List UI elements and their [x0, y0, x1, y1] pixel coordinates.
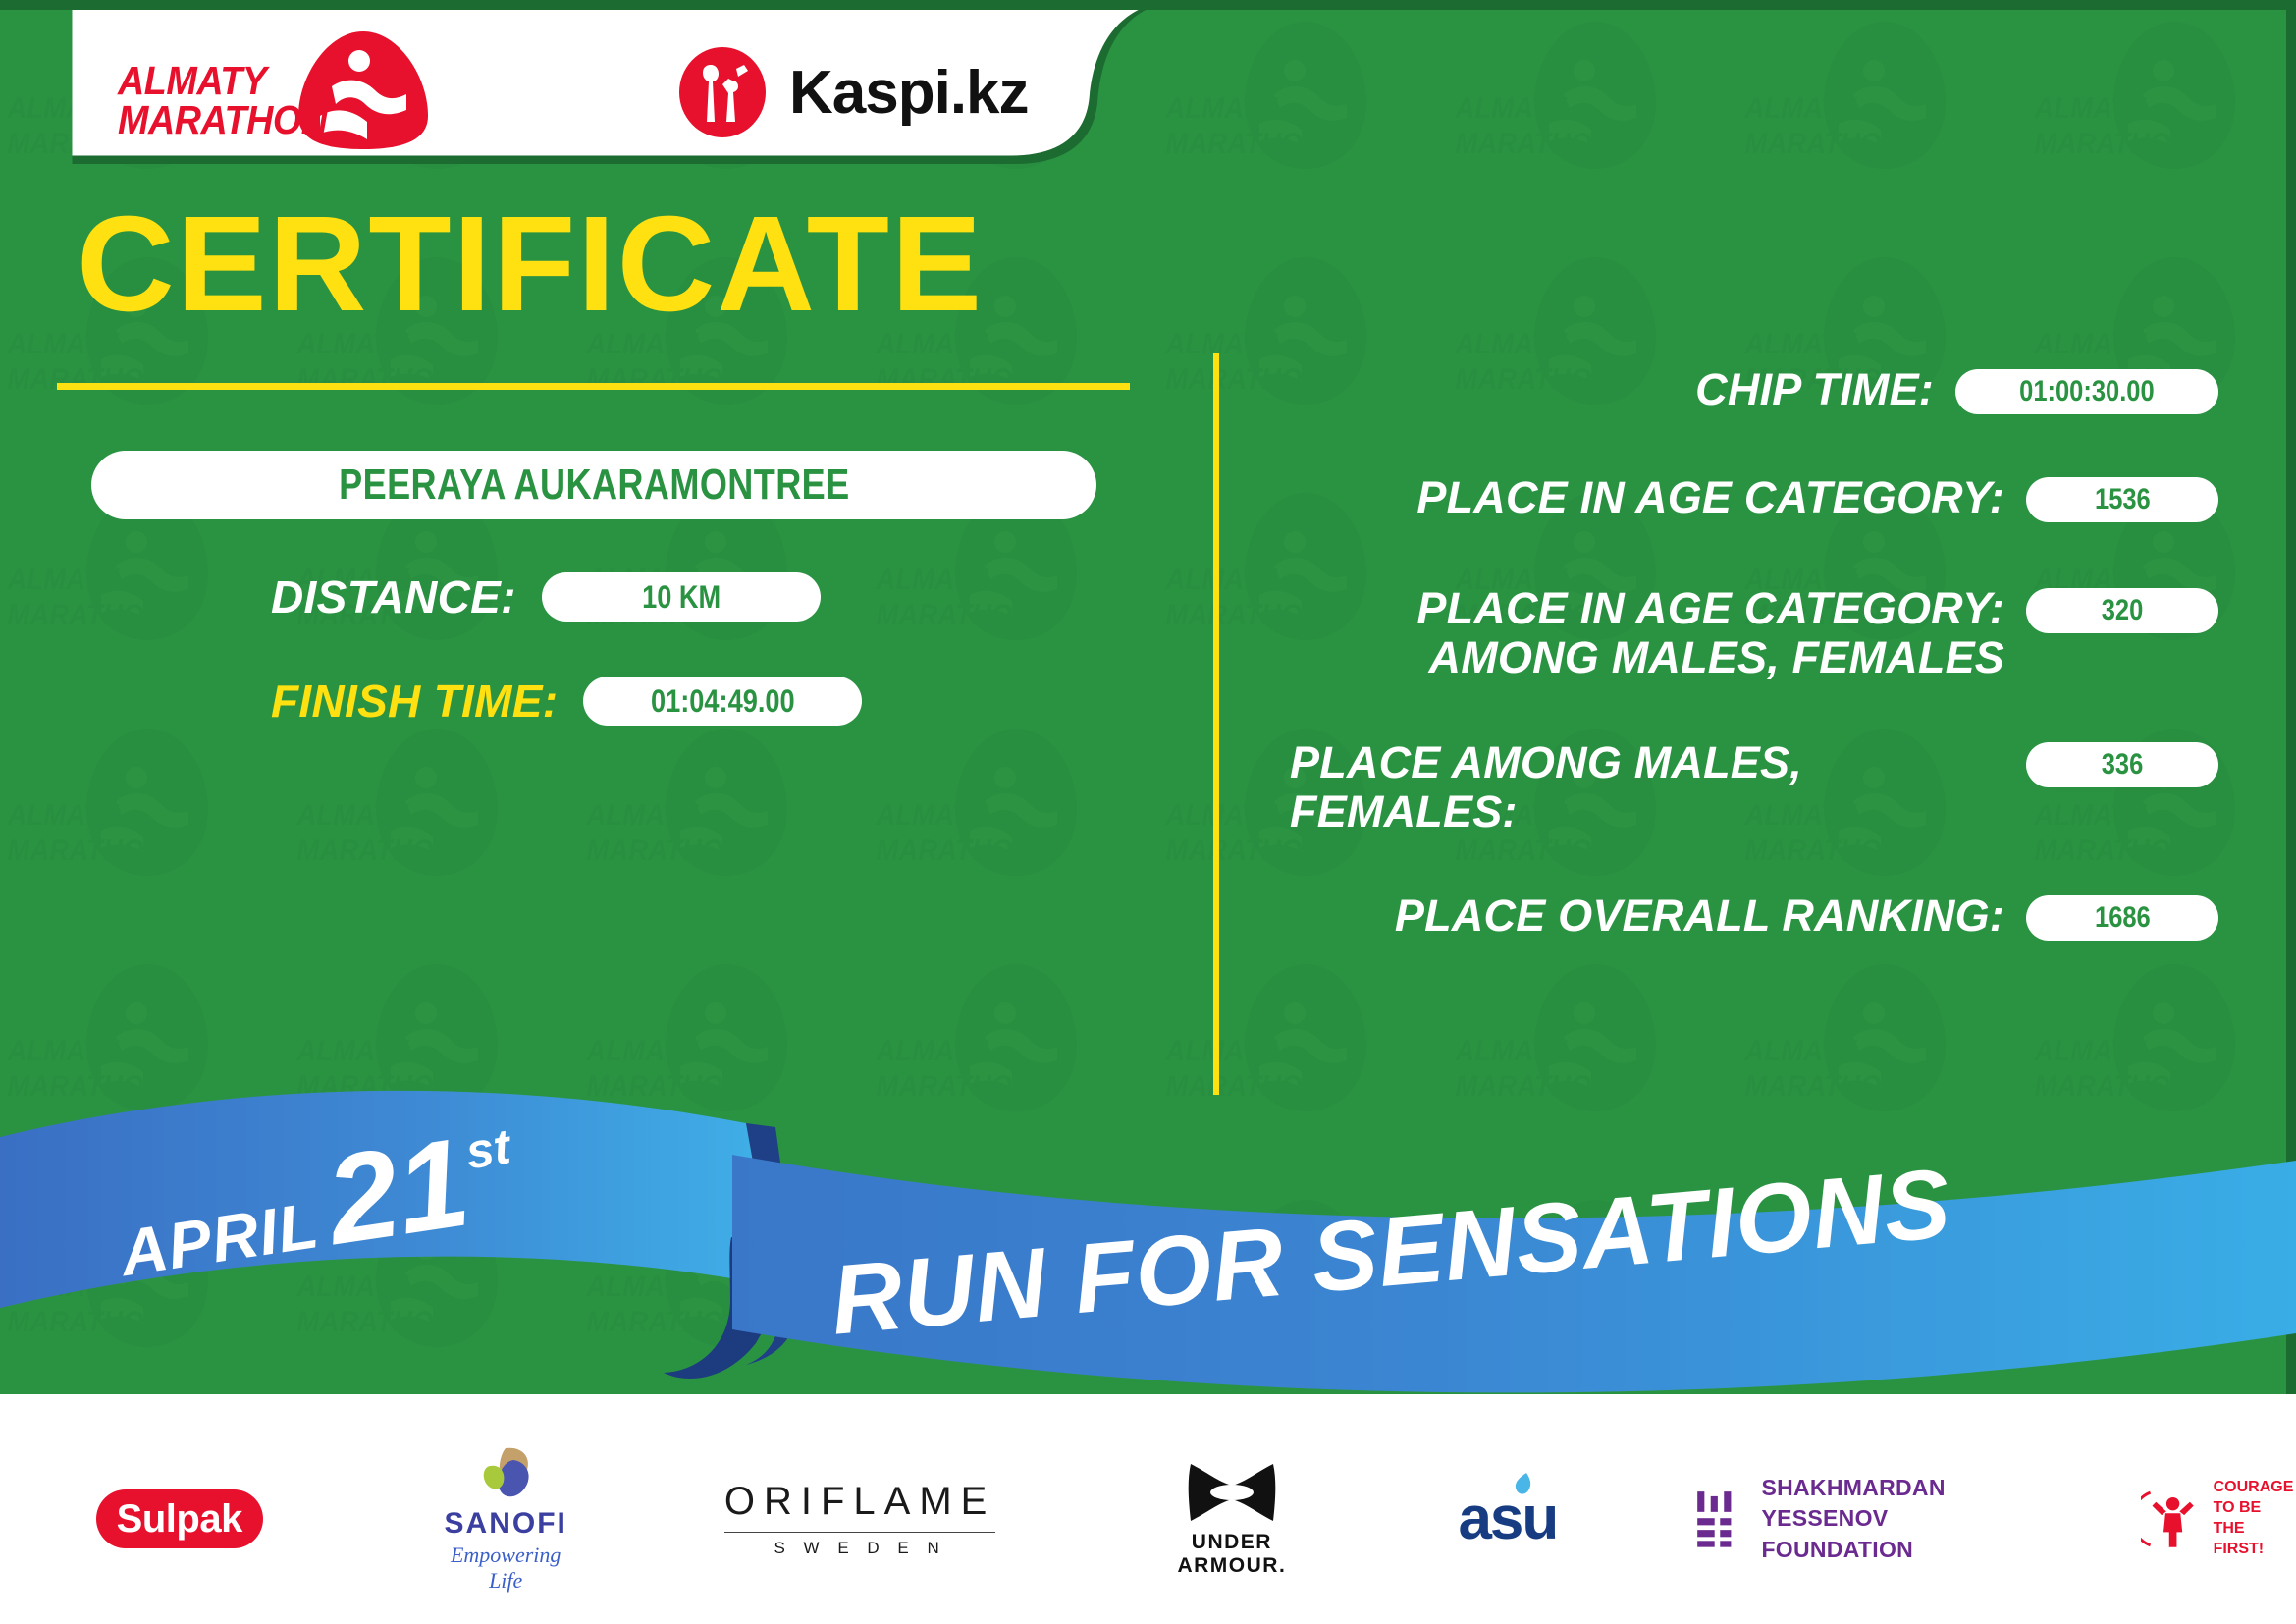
chip-time-label: CHIP TIME:: [1276, 365, 1955, 414]
place-overall-value-pill: 1686: [2026, 895, 2218, 941]
distance-row: DISTANCE: 10 KM: [271, 570, 1158, 623]
place-age-category-value: 1536: [2095, 483, 2151, 516]
almaty-marathon-line2: MARATHON: [118, 97, 328, 142]
oriflame-wordmark: ORIFLAME: [724, 1480, 995, 1524]
asu-wordmark: asu: [1458, 1489, 1557, 1549]
courage-fund-line3: THE FIRST!: [2214, 1520, 2265, 1557]
almaty-marathon-wordmark: ALMATY MARATHON: [118, 61, 328, 139]
place-age-category-gender-value: 320: [2102, 594, 2144, 627]
event-day: 21: [320, 1125, 475, 1258]
place-age-category-gender-line1: PLACE IN AGE CATEGORY:: [1416, 583, 2004, 633]
place-overall-value: 1686: [2095, 901, 2151, 935]
sponsor-bar: Sulpak SANOFI Empowering Life ORIFLAME S…: [0, 1414, 2296, 1624]
stats-column: CHIP TIME: 01:00:30.00 PLACE IN AGE CATE…: [1276, 365, 2218, 942]
courage-fund-line2: TO BE: [2214, 1499, 2262, 1516]
sponsor-logo-oriflame: ORIFLAME S W E D E N: [724, 1480, 995, 1558]
under-armour-wordmark: UNDER ARMOUR.: [1152, 1531, 1310, 1578]
sponsor-logo-sanofi: SANOFI Empowering Life: [445, 1444, 567, 1594]
sponsor-logo-sulpak: Sulpak: [96, 1489, 263, 1548]
distance-value-pill: 10 KM: [542, 572, 821, 622]
place-among-gender-line2: FEMALES:: [1290, 786, 1518, 837]
place-age-category-gender-value-pill: 320: [2026, 588, 2218, 633]
runner-name-value: PEERAYA AUKARAMONTREE: [339, 460, 849, 510]
event-day-suffix: st: [462, 1117, 514, 1180]
sulpak-wordmark: Sulpak: [117, 1497, 242, 1542]
kaspi-wordmark: Kaspi.kz: [789, 58, 1029, 128]
yessenov-line2: FOUNDATION: [1761, 1537, 1913, 1562]
certificate-page: ALMATY MARATHON ALMATY MARATHON: [0, 0, 2296, 1624]
left-column: CERTIFICATE PEERAYA AUKARAMONTREE DISTAN…: [0, 196, 1158, 728]
place-among-gender-value: 336: [2102, 748, 2144, 782]
place-age-category-value-pill: 1536: [2026, 477, 2218, 522]
stat-row-place-age-category: PLACE IN AGE CATEGORY: 1536: [1276, 473, 2218, 522]
chip-time-value: 01:00:30.00: [2019, 375, 2155, 408]
place-among-gender-line1: PLACE AMONG MALES,: [1290, 737, 1802, 787]
place-overall-label: PLACE OVERALL RANKING:: [1276, 892, 2026, 941]
sponsor-logo-under-armour: UNDER ARMOUR.: [1152, 1460, 1310, 1578]
sanofi-tagline: Empowering Life: [445, 1543, 567, 1594]
oriflame-country: S W E D E N: [724, 1532, 995, 1558]
page-title: CERTIFICATE: [77, 196, 1158, 332]
yessenov-bars-icon: [1694, 1483, 1739, 1555]
under-armour-mark-icon: [1181, 1460, 1283, 1525]
kaspi-logo: Kaspi.kz: [677, 45, 1029, 139]
stat-row-place-age-category-gender: PLACE IN AGE CATEGORY: AMONG MALES, FEMA…: [1276, 584, 2218, 683]
sponsor-logo-courage-fund: CORPORATE FUND COURAGE TO BE THE FIRST!: [2141, 1478, 2296, 1559]
asu-droplet-icon: [1513, 1471, 1534, 1496]
kaspi-figure-icon: [677, 45, 768, 139]
distance-label: DISTANCE:: [271, 570, 516, 623]
finish-time-row: FINISH TIME: 01:04:49.00: [271, 675, 1158, 728]
place-age-category-label: PLACE IN AGE CATEGORY:: [1276, 473, 2026, 522]
place-age-category-gender-line2: AMONG MALES, FEMALES: [1429, 632, 2005, 682]
almaty-marathon-line1: ALMATY: [118, 58, 267, 103]
place-among-gender-label: PLACE AMONG MALES, FEMALES:: [1276, 738, 2026, 838]
stat-row-chip-time: CHIP TIME: 01:00:30.00: [1276, 365, 2218, 414]
almaty-marathon-logo: ALMATY MARATHON: [118, 37, 432, 155]
stat-row-place-among-gender: PLACE AMONG MALES, FEMALES: 336: [1276, 738, 2218, 838]
distance-value: 10 KM: [642, 579, 721, 616]
sanofi-mark-icon: [468, 1444, 543, 1507]
finish-time-label: FINISH TIME:: [271, 675, 558, 728]
yessenov-line1: SHAKHMARDAN YESSENOV: [1761, 1475, 1945, 1531]
finish-time-value-pill: 01:04:49.00: [583, 677, 862, 726]
yessenov-wordmark: SHAKHMARDAN YESSENOV FOUNDATION: [1761, 1473, 2013, 1564]
header-logos: ALMATY MARATHON Kaspi.kz: [0, 0, 1306, 183]
place-age-category-gender-label: PLACE IN AGE CATEGORY: AMONG MALES, FEMA…: [1276, 584, 2026, 683]
place-among-gender-value-pill: 336: [2026, 742, 2218, 787]
courage-fund-wordmark: COURAGE TO BE THE FIRST!: [2214, 1478, 2296, 1559]
courage-fund-figure-icon: CORPORATE FUND: [2141, 1484, 2201, 1554]
chip-time-value-pill: 01:00:30.00: [1955, 369, 2218, 414]
title-underline: [57, 383, 1130, 390]
sponsor-logo-asu: asu: [1458, 1489, 1557, 1549]
finish-time-value: 01:04:49.00: [651, 683, 795, 720]
runner-name-field: PEERAYA AUKARAMONTREE: [91, 451, 1096, 519]
stat-row-place-overall: PLACE OVERALL RANKING: 1686: [1276, 892, 2218, 941]
courage-fund-line1: COURAGE: [2214, 1479, 2294, 1495]
sponsor-logo-yessenov-foundation: SHAKHMARDAN YESSENOV FOUNDATION: [1694, 1473, 2013, 1564]
sanofi-wordmark: SANOFI: [445, 1507, 567, 1541]
column-divider: [1213, 353, 1219, 1095]
